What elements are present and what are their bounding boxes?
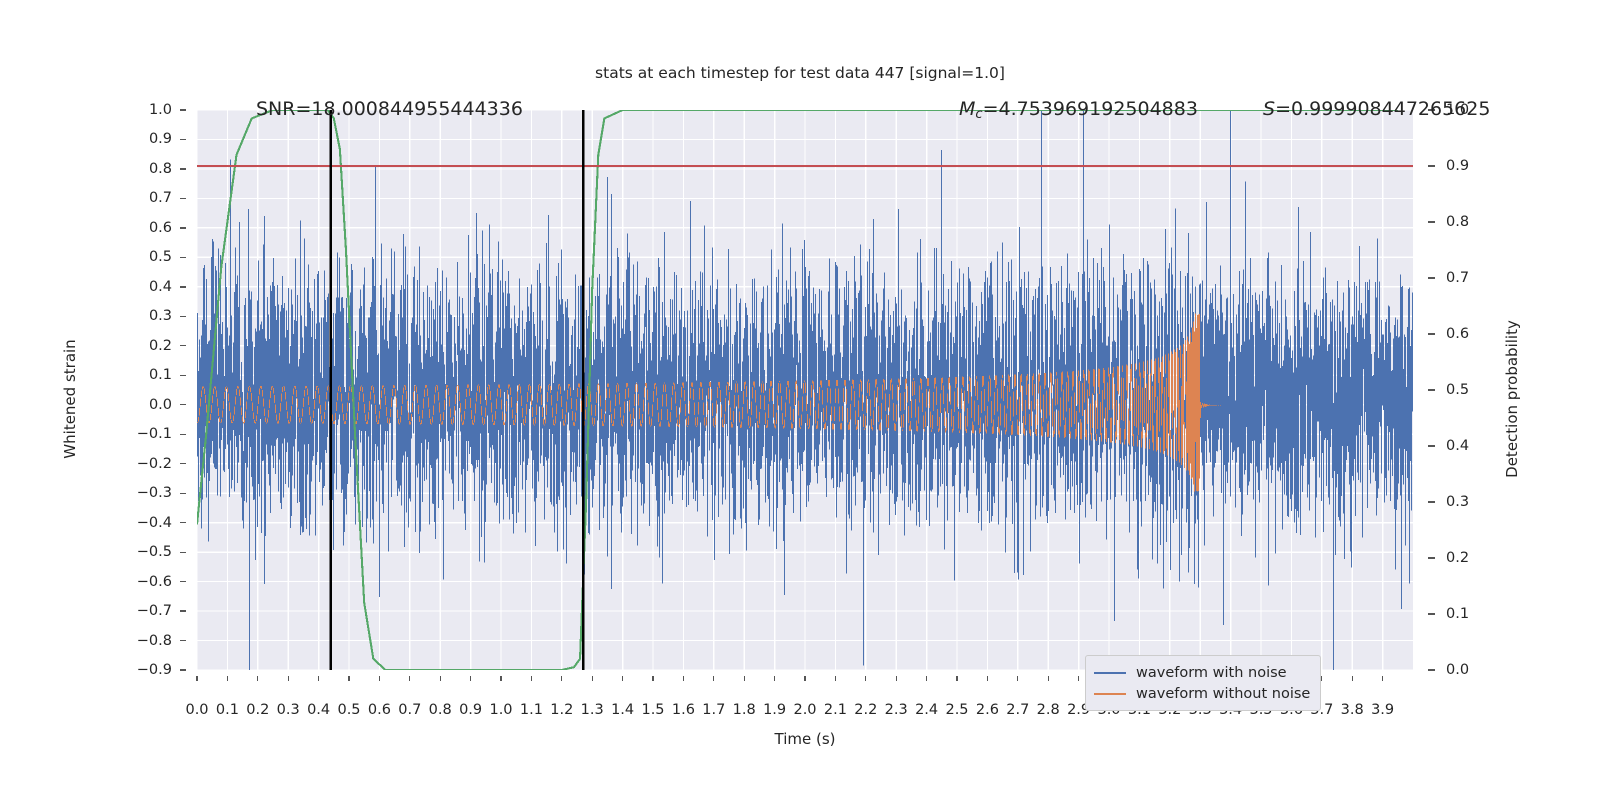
y-tick-mark-left (180, 286, 186, 287)
x-tick-label: 1.1 (520, 702, 543, 718)
y-tick-mark-left (180, 227, 186, 228)
x-tick-mark (744, 676, 745, 681)
x-tick-mark (713, 676, 714, 681)
y-tick-label-left: 0.3 (149, 308, 172, 324)
y-tick-label-right: 0.6 (1446, 326, 1469, 342)
y-tick-label-left: 0.6 (149, 220, 172, 236)
x-tick-label: 1.6 (672, 702, 695, 718)
y-tick-mark-right (1428, 165, 1435, 166)
x-tick-label: 0.3 (277, 702, 300, 718)
snr-label: SNR= (256, 98, 311, 120)
snr-annotation: SNR=18.000844955444336 (256, 98, 523, 120)
x-tick-mark (956, 676, 957, 681)
x-tick-label: 2.7 (1006, 702, 1029, 718)
s-label: S (1263, 98, 1275, 120)
y-tick-label-left: 0.1 (149, 367, 172, 383)
x-tick-mark (683, 676, 684, 681)
x-tick-label: 0.7 (398, 702, 421, 718)
mc-annotation: Mc=4.753969192504883 (959, 98, 1198, 122)
x-tick-label: 2.3 (885, 702, 908, 718)
y-tick-label-left: −0.7 (137, 603, 172, 619)
y-tick-mark-right (1428, 557, 1435, 558)
y-tick-mark-right (1428, 389, 1435, 390)
y-tick-label-right: 0.9 (1446, 158, 1469, 174)
legend-item-clean[interactable]: waveform without noise (1094, 683, 1310, 704)
x-tick-label: 0.4 (307, 702, 330, 718)
y-tick-mark-left (180, 610, 186, 611)
x-tick-mark (774, 676, 775, 681)
legend-label-clean: waveform without noise (1136, 686, 1310, 702)
x-tick-label: 0.1 (216, 702, 239, 718)
y-tick-label-left: 0.2 (149, 338, 172, 354)
x-tick-mark (987, 676, 988, 681)
mc-equals: = (983, 98, 999, 120)
x-tick-mark (592, 676, 593, 681)
y-tick-label-left: 1.0 (149, 102, 172, 118)
mc-label: M (959, 98, 975, 120)
snr-value: 18.000844955444336 (311, 98, 523, 120)
y-tick-mark-left (180, 640, 186, 641)
y-tick-label-left: −0.1 (137, 426, 172, 442)
x-tick-mark (379, 676, 380, 681)
y-tick-mark-right (1428, 277, 1435, 278)
x-tick-mark (652, 676, 653, 681)
y-tick-label-right: 0.5 (1446, 382, 1469, 398)
x-tick-label: 0.6 (368, 702, 391, 718)
legend-swatch-clean (1094, 693, 1126, 695)
y-tick-label-left: 0.5 (149, 249, 172, 265)
x-tick-mark (865, 676, 866, 681)
x-tick-mark (1382, 676, 1383, 681)
y-tick-mark-right (1428, 669, 1435, 670)
y-tick-label-left: 0.0 (149, 397, 172, 413)
y-tick-label-left: 0.9 (149, 131, 172, 147)
y-axis-ticks-right: 1.00.90.80.70.60.50.40.30.20.10.0 (1428, 110, 1498, 670)
x-tick-mark (196, 676, 197, 681)
s-equals: = (1275, 98, 1291, 120)
x-tick-mark (440, 676, 441, 681)
x-tick-label: 2.6 (976, 702, 999, 718)
x-tick-label: 2.0 (793, 702, 816, 718)
y-tick-label-right: 0.3 (1446, 494, 1469, 510)
y-tick-mark-left (180, 168, 186, 169)
x-tick-mark (318, 676, 319, 681)
y-tick-label-left: 0.4 (149, 279, 172, 295)
x-tick-mark (257, 676, 258, 681)
y-tick-mark-left (180, 316, 186, 317)
legend-swatch-noise (1094, 672, 1126, 674)
x-tick-label: 3.8 (1341, 702, 1364, 718)
x-tick-mark (409, 676, 410, 681)
x-tick-mark (227, 676, 228, 681)
x-tick-mark (561, 676, 562, 681)
y-tick-mark-left (180, 139, 186, 140)
x-tick-label: 3.9 (1371, 702, 1394, 718)
mc-value: 4.753969192504883 (998, 98, 1197, 120)
x-tick-mark (1321, 676, 1322, 681)
y-axis-ticks-left: 1.00.90.80.70.60.50.40.30.20.10.0−0.1−0.… (120, 110, 186, 670)
y-tick-label-right: 0.0 (1446, 662, 1469, 678)
y-tick-mark-right (1428, 333, 1435, 334)
chart-title: stats at each timestep for test data 447… (0, 64, 1600, 82)
y-tick-label-left: −0.6 (137, 574, 172, 590)
y-tick-mark-left (180, 375, 186, 376)
y-tick-mark-right (1428, 501, 1435, 502)
x-tick-label: 1.0 (489, 702, 512, 718)
y-tick-label-left: −0.9 (137, 662, 172, 678)
x-axis-label: Time (s) (197, 730, 1413, 748)
y-tick-mark-left (180, 109, 186, 110)
y-tick-label-left: −0.2 (137, 456, 172, 472)
x-tick-label: 0.5 (337, 702, 360, 718)
y-tick-mark-left (180, 257, 186, 258)
y-tick-label-left: −0.3 (137, 485, 172, 501)
y-tick-mark-left (180, 669, 186, 670)
y-axis-label-right: Detection probability (1503, 299, 1521, 499)
x-tick-mark (926, 676, 927, 681)
x-tick-mark (896, 676, 897, 681)
y-tick-mark-left (180, 198, 186, 199)
x-tick-mark (622, 676, 623, 681)
plot-clip (197, 110, 1413, 670)
x-tick-label: 1.3 (581, 702, 604, 718)
mc-subscript: c (975, 107, 982, 122)
x-tick-mark (500, 676, 501, 681)
y-tick-mark-left (180, 581, 186, 582)
y-tick-label-right: 0.1 (1446, 606, 1469, 622)
y-tick-mark-left (180, 434, 186, 435)
y-tick-label-left: −0.8 (137, 633, 172, 649)
y-tick-label-right: 0.7 (1446, 270, 1469, 286)
y-axis-label-left: Whitened strain (61, 299, 79, 499)
y-tick-label-left: 0.7 (149, 190, 172, 206)
x-tick-mark (1352, 676, 1353, 681)
x-tick-mark (288, 676, 289, 681)
y-tick-label-left: −0.5 (137, 544, 172, 560)
legend-label-noise: waveform with noise (1136, 665, 1287, 681)
x-tick-mark (835, 676, 836, 681)
plot-svg (197, 110, 1413, 670)
x-tick-label: 2.5 (945, 702, 968, 718)
y-tick-mark-right (1428, 221, 1435, 222)
y-tick-mark-right (1428, 445, 1435, 446)
x-tick-mark (1048, 676, 1049, 681)
x-tick-label: 2.4 (915, 702, 938, 718)
y-tick-mark-left (180, 522, 186, 523)
y-tick-mark-left (180, 345, 186, 346)
x-tick-label: 1.4 (611, 702, 634, 718)
figure-canvas: stats at each timestep for test data 447… (0, 0, 1600, 800)
legend-item-noise[interactable]: waveform with noise (1094, 662, 1310, 683)
x-tick-label: 2.8 (1037, 702, 1060, 718)
y-tick-label-right: 0.8 (1446, 214, 1469, 230)
x-tick-mark (531, 676, 532, 681)
x-tick-label: 1.2 (550, 702, 573, 718)
y-tick-mark-left (180, 463, 186, 464)
legend: waveform with noise waveform without noi… (1085, 655, 1321, 711)
x-tick-label: 1.5 (641, 702, 664, 718)
s-value: 0.999908447265625 (1291, 98, 1490, 120)
y-tick-label-right: 0.2 (1446, 550, 1469, 566)
x-tick-label: 2.1 (824, 702, 847, 718)
x-tick-label: 1.7 (702, 702, 725, 718)
x-tick-label: 2.2 (854, 702, 877, 718)
y-tick-label-left: −0.4 (137, 515, 172, 531)
y-tick-mark-left (180, 493, 186, 494)
y-tick-label-left: 0.8 (149, 161, 172, 177)
y-tick-label-right: 0.4 (1446, 438, 1469, 454)
x-tick-label: 1.9 (763, 702, 786, 718)
x-tick-mark (470, 676, 471, 681)
x-tick-mark (1017, 676, 1018, 681)
x-tick-label: 0.2 (246, 702, 269, 718)
y-tick-mark-left (180, 404, 186, 405)
y-tick-mark-right (1428, 613, 1435, 614)
x-tick-mark (348, 676, 349, 681)
plot-area (197, 110, 1413, 670)
x-tick-label: 1.8 (733, 702, 756, 718)
x-tick-mark (1078, 676, 1079, 681)
y-tick-mark-left (180, 552, 186, 553)
x-tick-label: 0.0 (185, 702, 208, 718)
x-tick-label: 0.8 (429, 702, 452, 718)
x-tick-mark (804, 676, 805, 681)
x-tick-label: 0.9 (459, 702, 482, 718)
s-annotation: S=0.999908447265625 (1263, 98, 1490, 120)
